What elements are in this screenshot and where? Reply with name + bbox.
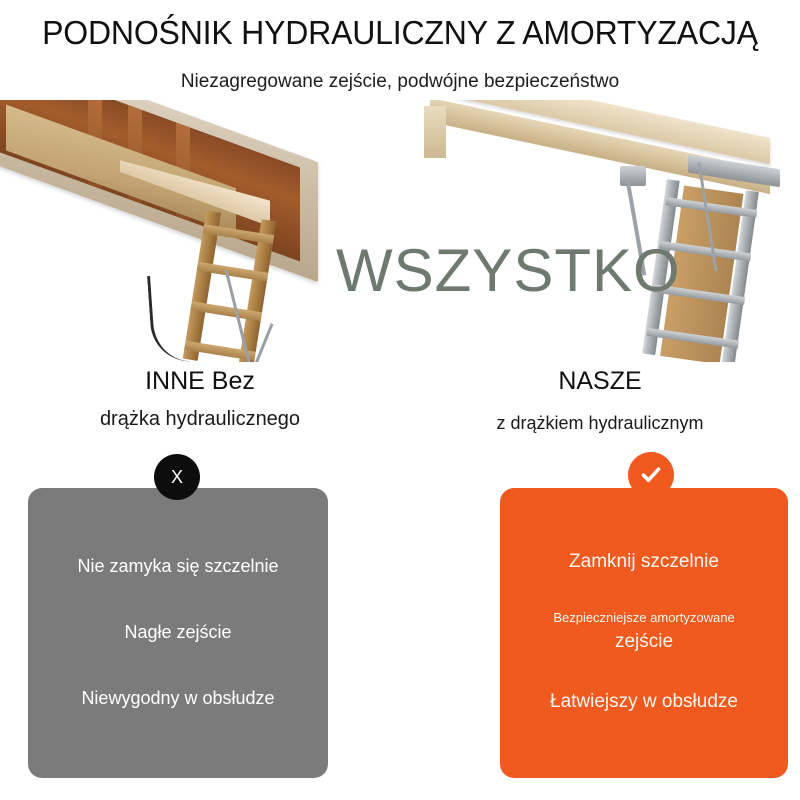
caption-ours-heading: NASZE [400,366,800,396]
page-title: PODNOŚNIK HYDRAULICZNY Z AMORTYZACJĄ [12,14,788,52]
panel-other-drawbacks: Nie zamyka się szczelnie Nagłe zejście N… [28,488,328,778]
panel-item: Nagłe zejście [38,619,318,645]
cross-icon: X [154,454,200,500]
panel-item: Bezpieczniejsze amortyzowane zejście [510,608,778,656]
page-subtitle: Niezagregowane zejście, podwójne bezpiec… [0,70,800,94]
panel-item: Nie zamyka się szczelnie [38,553,318,579]
panel-item-main: zejście [510,628,778,656]
panel-item: Niewygodny w obsłudze [38,685,318,711]
panel-ours-benefits: Zamknij szczelnie Bezpieczniejsze amorty… [500,488,788,778]
panel-item-small: Bezpieczniejsze amortyzowane [510,608,778,628]
watermark-text: WSZYSTKO [336,238,681,304]
caption-ours-subheading: z drążkiem hydraulicznym [400,410,800,436]
caption-other-heading: INNE Bez [0,366,400,396]
product-photo-ours [420,100,800,362]
caption-other-subheading: drążka hydraulicznego [0,406,400,432]
hydraulic-cable-black [147,272,212,362]
check-icon [628,452,674,498]
product-photo-other [0,100,360,362]
loft-hatch-frame-light-side [424,106,446,158]
panel-item: Łatwiejszy w obsłudze [510,688,778,716]
metal-hinge-bracket [620,166,646,186]
panel-item-main: Zamknij szczelnie [510,548,778,576]
cross-icon-glyph: X [171,468,183,486]
panel-item: Zamknij szczelnie [510,548,778,576]
panel-item-main: Łatwiejszy w obsłudze [510,688,778,716]
